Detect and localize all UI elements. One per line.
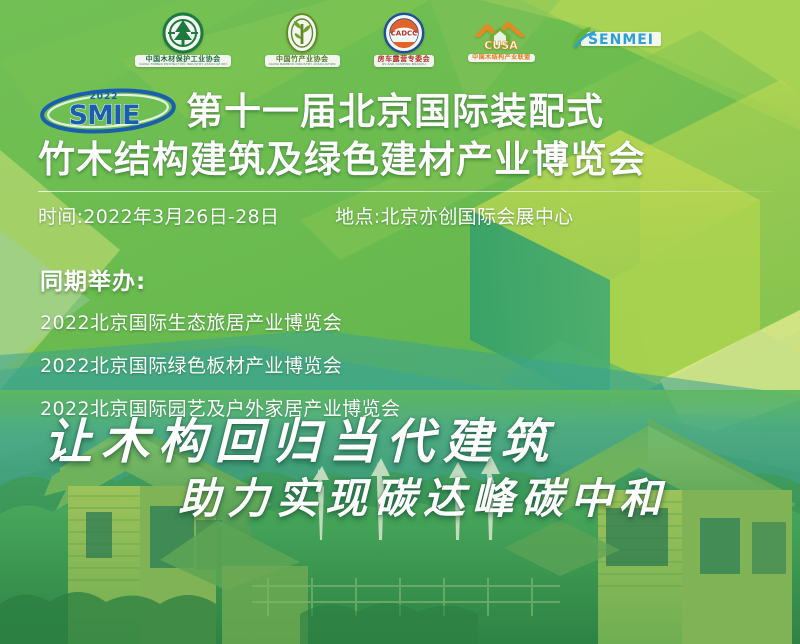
cadcc-seal-icon: CADCC xyxy=(383,12,425,54)
sponsor-logo-strip: 中国木材保护工业协会 CHINA TIMBER PROTECTION INDUS… xyxy=(0,8,800,70)
headline-line-1-row: 2022 SMIE 第十一届北京国际装配式 xyxy=(0,88,800,134)
headline-block: 2022 SMIE 第十一届北京国际装配式 竹木结构建筑及绿色建材产业博览会 时… xyxy=(0,88,800,229)
logo-caption: 中国木结构产业联盟 xyxy=(468,54,535,62)
logo-caption-en: CHINA TIMBER PROTECTION INDUSTRY ASSOCIA… xyxy=(139,63,227,66)
logo-caption: 房车露营专委会 RV AND CAMPING BRANCH xyxy=(374,55,435,67)
logo-senmei[interactable]: SENMEI xyxy=(569,24,665,54)
svg-text:SENMEI: SENMEI xyxy=(588,32,654,48)
logo-china-timber[interactable]: 中国木材保护工业协会 CHINA TIMBER PROTECTION INDUS… xyxy=(135,12,231,67)
event-venue: 地点:北京亦创国际会展中心 xyxy=(335,202,573,229)
event-meta: 时间:2022年3月26日-28日 地点:北京亦创国际会展中心 xyxy=(0,202,800,229)
logo-caption-en: CHINA BAMBOO INDUSTRY ASSOCIATION xyxy=(269,63,336,66)
svg-text:CADCC: CADCC xyxy=(391,29,418,37)
slogan-block: 让木构回归当代建筑 助力实现碳达峰碳中和 xyxy=(0,418,800,520)
headline-line-2: 竹木结构建筑及绿色建材产业博览会 xyxy=(0,139,800,182)
list-item: 2022北京国际绿色板材产业博览会 xyxy=(40,351,400,378)
logo-caption: 中国竹产业协会 CHINA BAMBOO INDUSTRY ASSOCIATIO… xyxy=(265,55,340,67)
event-date: 时间:2022年3月26日-28日 xyxy=(38,202,279,229)
slogan-line-1: 让木构回归当代建筑 xyxy=(0,418,800,466)
headline-divider xyxy=(38,191,774,192)
logo-bamboo-association[interactable]: 中国竹产业协会 CHINA BAMBOO INDUSTRY ASSOCIATIO… xyxy=(265,12,340,67)
logo-caption: 中国木材保护工业协会 CHINA TIMBER PROTECTION INDUS… xyxy=(135,55,231,67)
headline-line-1: 第十一届北京国际装配式 xyxy=(186,93,604,130)
house-roof-icon: CUSA xyxy=(470,17,532,53)
logo-caption-cn: 中国木结构产业联盟 xyxy=(472,55,531,61)
bamboo-emblem-icon xyxy=(282,12,322,54)
concurrent-events-list: 2022北京国际生态旅居产业博览会 2022北京国际绿色板材产业博览会 2022… xyxy=(40,308,400,421)
list-item: 2022北京国际生态旅居产业博览会 xyxy=(40,308,400,335)
logo-caption-en: RV AND CAMPING BRANCH xyxy=(378,63,431,66)
leaf-sprout-icon: SENMEI xyxy=(569,24,665,54)
concurrent-events-block: 同期举办: 2022北京国际生态旅居产业博览会 2022北京国际绿色板材产业博览… xyxy=(0,262,400,437)
slogan-line-2: 助力实现碳达峰碳中和 xyxy=(0,478,800,520)
exhibition-poster: 中国木材保护工业协会 CHINA TIMBER PROTECTION INDUS… xyxy=(0,0,800,644)
svg-text:CUSA: CUSA xyxy=(485,39,519,52)
logo-cusa[interactable]: CUSA 中国木结构产业联盟 xyxy=(468,17,535,62)
smie-logo: 2022 SMIE xyxy=(38,88,178,134)
svg-text:SMIE: SMIE xyxy=(69,100,140,131)
pine-tree-emblem-icon xyxy=(162,12,204,54)
concurrent-heading: 同期举办: xyxy=(40,262,400,296)
logo-cadcc[interactable]: CADCC 房车露营专委会 RV AND CAMPING BRANCH xyxy=(374,12,435,67)
